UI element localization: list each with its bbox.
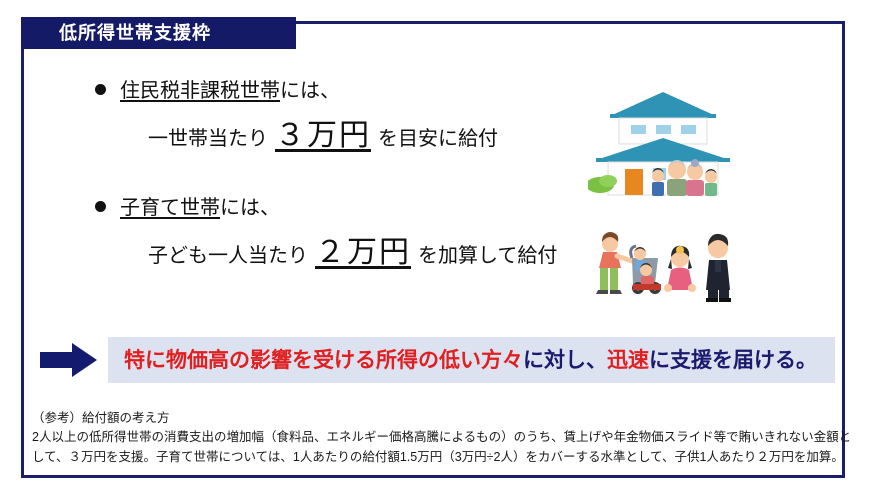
bullet-group-1: 住民税非課税世帯には、 一世帯当たり ３万円 を目安に給付 bbox=[95, 78, 575, 151]
bullet-dot-icon bbox=[95, 84, 106, 95]
bullet-heading-2: 子育て世帯には、 bbox=[95, 195, 575, 222]
header-banner: 低所得世帯支援枠 bbox=[21, 17, 296, 49]
bullet-heading-2-underlined: 子育て世帯 bbox=[120, 197, 220, 219]
bullet-heading-2-tail: には、 bbox=[220, 197, 280, 219]
callout-strip: 特に物価高の影響を受ける所得の低い方々に対し、迅速に支援を届ける。 bbox=[40, 337, 835, 383]
bullet-detail-1-suffix: を目安に給付 bbox=[378, 122, 498, 151]
bullet-amount-1: ３万円 bbox=[275, 121, 371, 151]
callout-segment-navy-1: に対し、 bbox=[523, 349, 607, 372]
callout-segment-red-2: 迅速 bbox=[607, 349, 649, 372]
right-arrow-icon bbox=[40, 342, 98, 378]
bullet-detail-2-suffix: を加算して給付 bbox=[418, 239, 557, 268]
slide-canvas: 低所得世帯支援枠 住民税非課税世帯には、 一世帯当たり ３万円 を目安に給付 子… bbox=[0, 0, 870, 503]
bullet-detail-1: 一世帯当たり ３万円 を目安に給付 bbox=[95, 121, 575, 151]
callout-text: 特に物価高の影響を受ける所得の低い方々に対し、迅速に支援を届ける。 bbox=[124, 350, 817, 371]
bullet-group-2: 子育て世帯には、 子ども一人当たり ２万円 を加算して給付 bbox=[95, 195, 575, 268]
callout-segment-navy-2: に支援を届ける。 bbox=[649, 349, 817, 372]
callout-segment-red-1: 特に物価高の影響を受ける所得の低い方々 bbox=[124, 349, 523, 372]
footnote-block: （参考）給付額の考え方 2人以上の低所得世帯の消費支出の増加幅（食料品、エネルギ… bbox=[32, 409, 844, 467]
banner-title: 低所得世帯支援枠 bbox=[59, 24, 211, 42]
parent-with-children-illustration bbox=[588, 228, 738, 312]
bullet-detail-2: 子ども一人当たり ２万円 を加算して給付 bbox=[95, 238, 575, 268]
footnote-line-3: して、３万円を支援。子育て世帯については、1人あたりの給付額1.5万円（3万円÷… bbox=[32, 448, 844, 467]
bullet-detail-2-prefix: 子ども一人当たり bbox=[148, 239, 308, 268]
footnote-line-1: （参考）給付額の考え方 bbox=[32, 409, 844, 428]
callout-box: 特に物価高の影響を受ける所得の低い方々に対し、迅速に支援を届ける。 bbox=[108, 337, 835, 383]
bullet-heading-1-underlined: 住民税非課税世帯 bbox=[120, 80, 280, 102]
bullet-detail-1-prefix: 一世帯当たり bbox=[148, 122, 268, 151]
bullet-dot-icon bbox=[95, 201, 106, 212]
bullet-list: 住民税非課税世帯には、 一世帯当たり ３万円 を目安に給付 子育て世帯には、 子… bbox=[95, 78, 575, 290]
bullet-amount-2: ２万円 bbox=[315, 238, 411, 268]
bullet-heading-1-tail: には、 bbox=[280, 80, 340, 102]
house-with-family-illustration bbox=[588, 86, 738, 198]
bullet-heading-1: 住民税非課税世帯には、 bbox=[95, 78, 575, 105]
footnote-line-2: 2人以上の低所得世帯の消費支出の増加幅（食料品、エネルギー価格高騰によるもの）の… bbox=[32, 428, 844, 447]
